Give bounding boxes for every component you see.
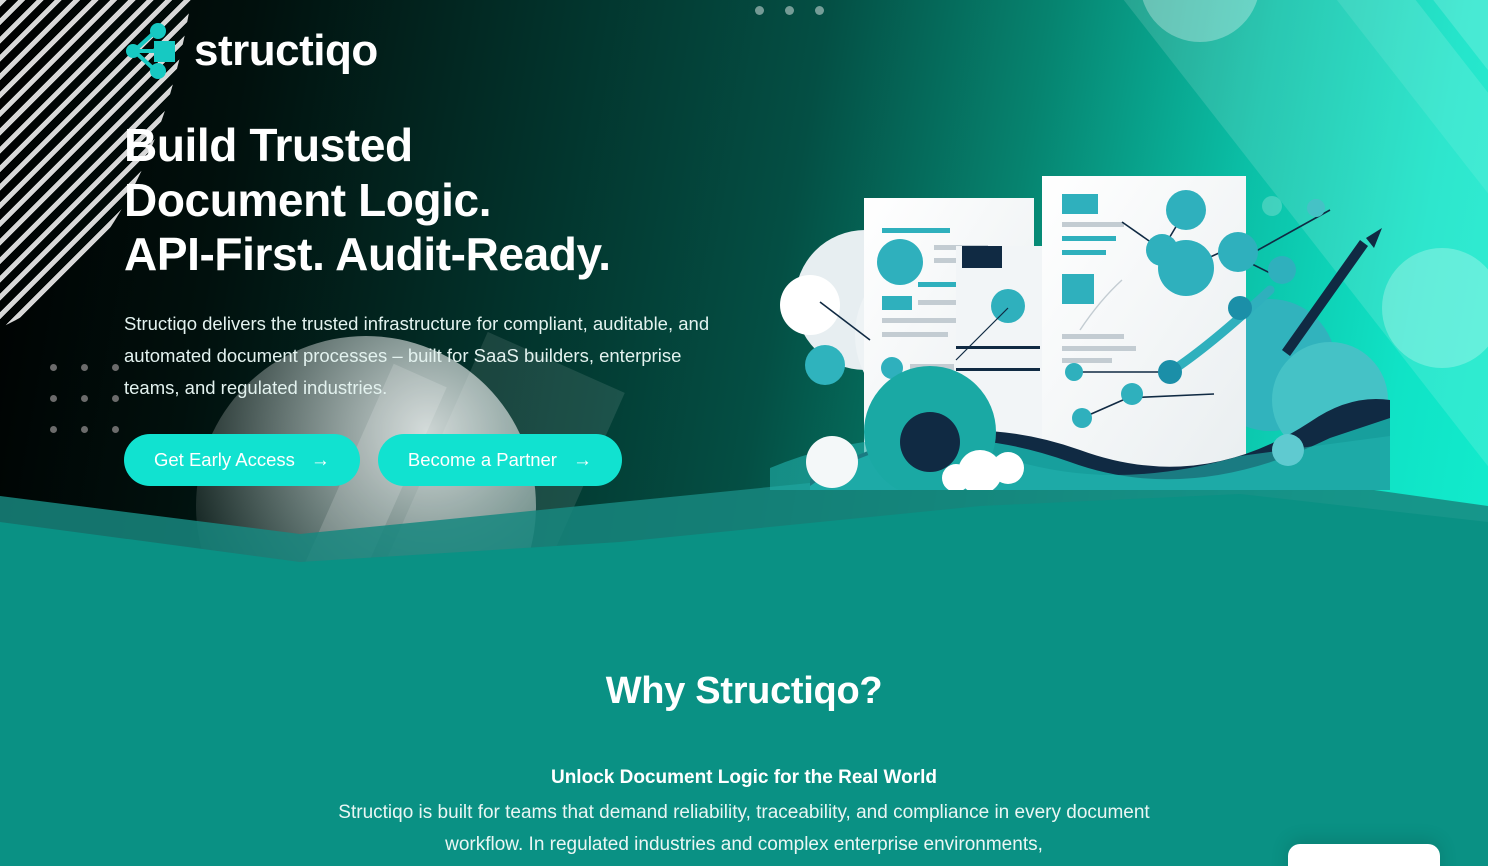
hero-subcopy: Structiqo delivers the trusted infrastru… [124,308,724,404]
grid-dot [50,364,57,371]
landing-page: structiqo Build Trusted Document Logic. … [0,0,1500,866]
grid-dot [50,395,57,402]
get-early-access-label: Get Early Access [154,449,295,471]
why-body-text: Structiqo is built for teams that demand… [329,797,1159,861]
hero-section: structiqo Build Trusted Document Logic. … [0,0,1488,600]
document-network-illustration [770,150,1390,490]
brand-name: structiqo [194,29,378,73]
top-dot [755,6,764,15]
grid-dot [81,426,88,433]
top-dot-row [755,6,824,15]
decorative-circle-bottom-right [1382,248,1488,368]
grid-dot [50,426,57,433]
node-graph-icon [124,22,178,80]
become-a-partner-button[interactable]: Become a Partner → [378,434,622,486]
hero-content: Build Trusted Document Logic. API-First.… [124,118,764,486]
floating-card[interactable] [1288,844,1440,866]
grid-dot [112,364,119,371]
grid-dot [112,426,119,433]
grid-dot [112,395,119,402]
get-early-access-button[interactable]: Get Early Access → [124,434,360,486]
become-a-partner-label: Become a Partner [408,449,557,471]
grid-dot [81,364,88,371]
page-title: Build Trusted Document Logic. API-First.… [124,118,764,282]
page-scrollbar[interactable] [1488,0,1500,866]
why-section-title: Why Structiqo? [0,670,1488,713]
top-dot [785,6,794,15]
top-dot [815,6,824,15]
why-subheading: Unlock Document Logic for the Real World [0,767,1488,789]
grid-dot [81,395,88,402]
brand-logo[interactable]: structiqo [124,22,378,80]
decorative-circle-top-right [1140,0,1260,42]
arrow-right-icon: → [573,451,592,470]
cta-row: Get Early Access → Become a Partner → [124,434,764,486]
arrow-right-icon: → [311,451,330,470]
why-section: Why Structiqo? Unlock Document Logic for… [0,600,1488,866]
